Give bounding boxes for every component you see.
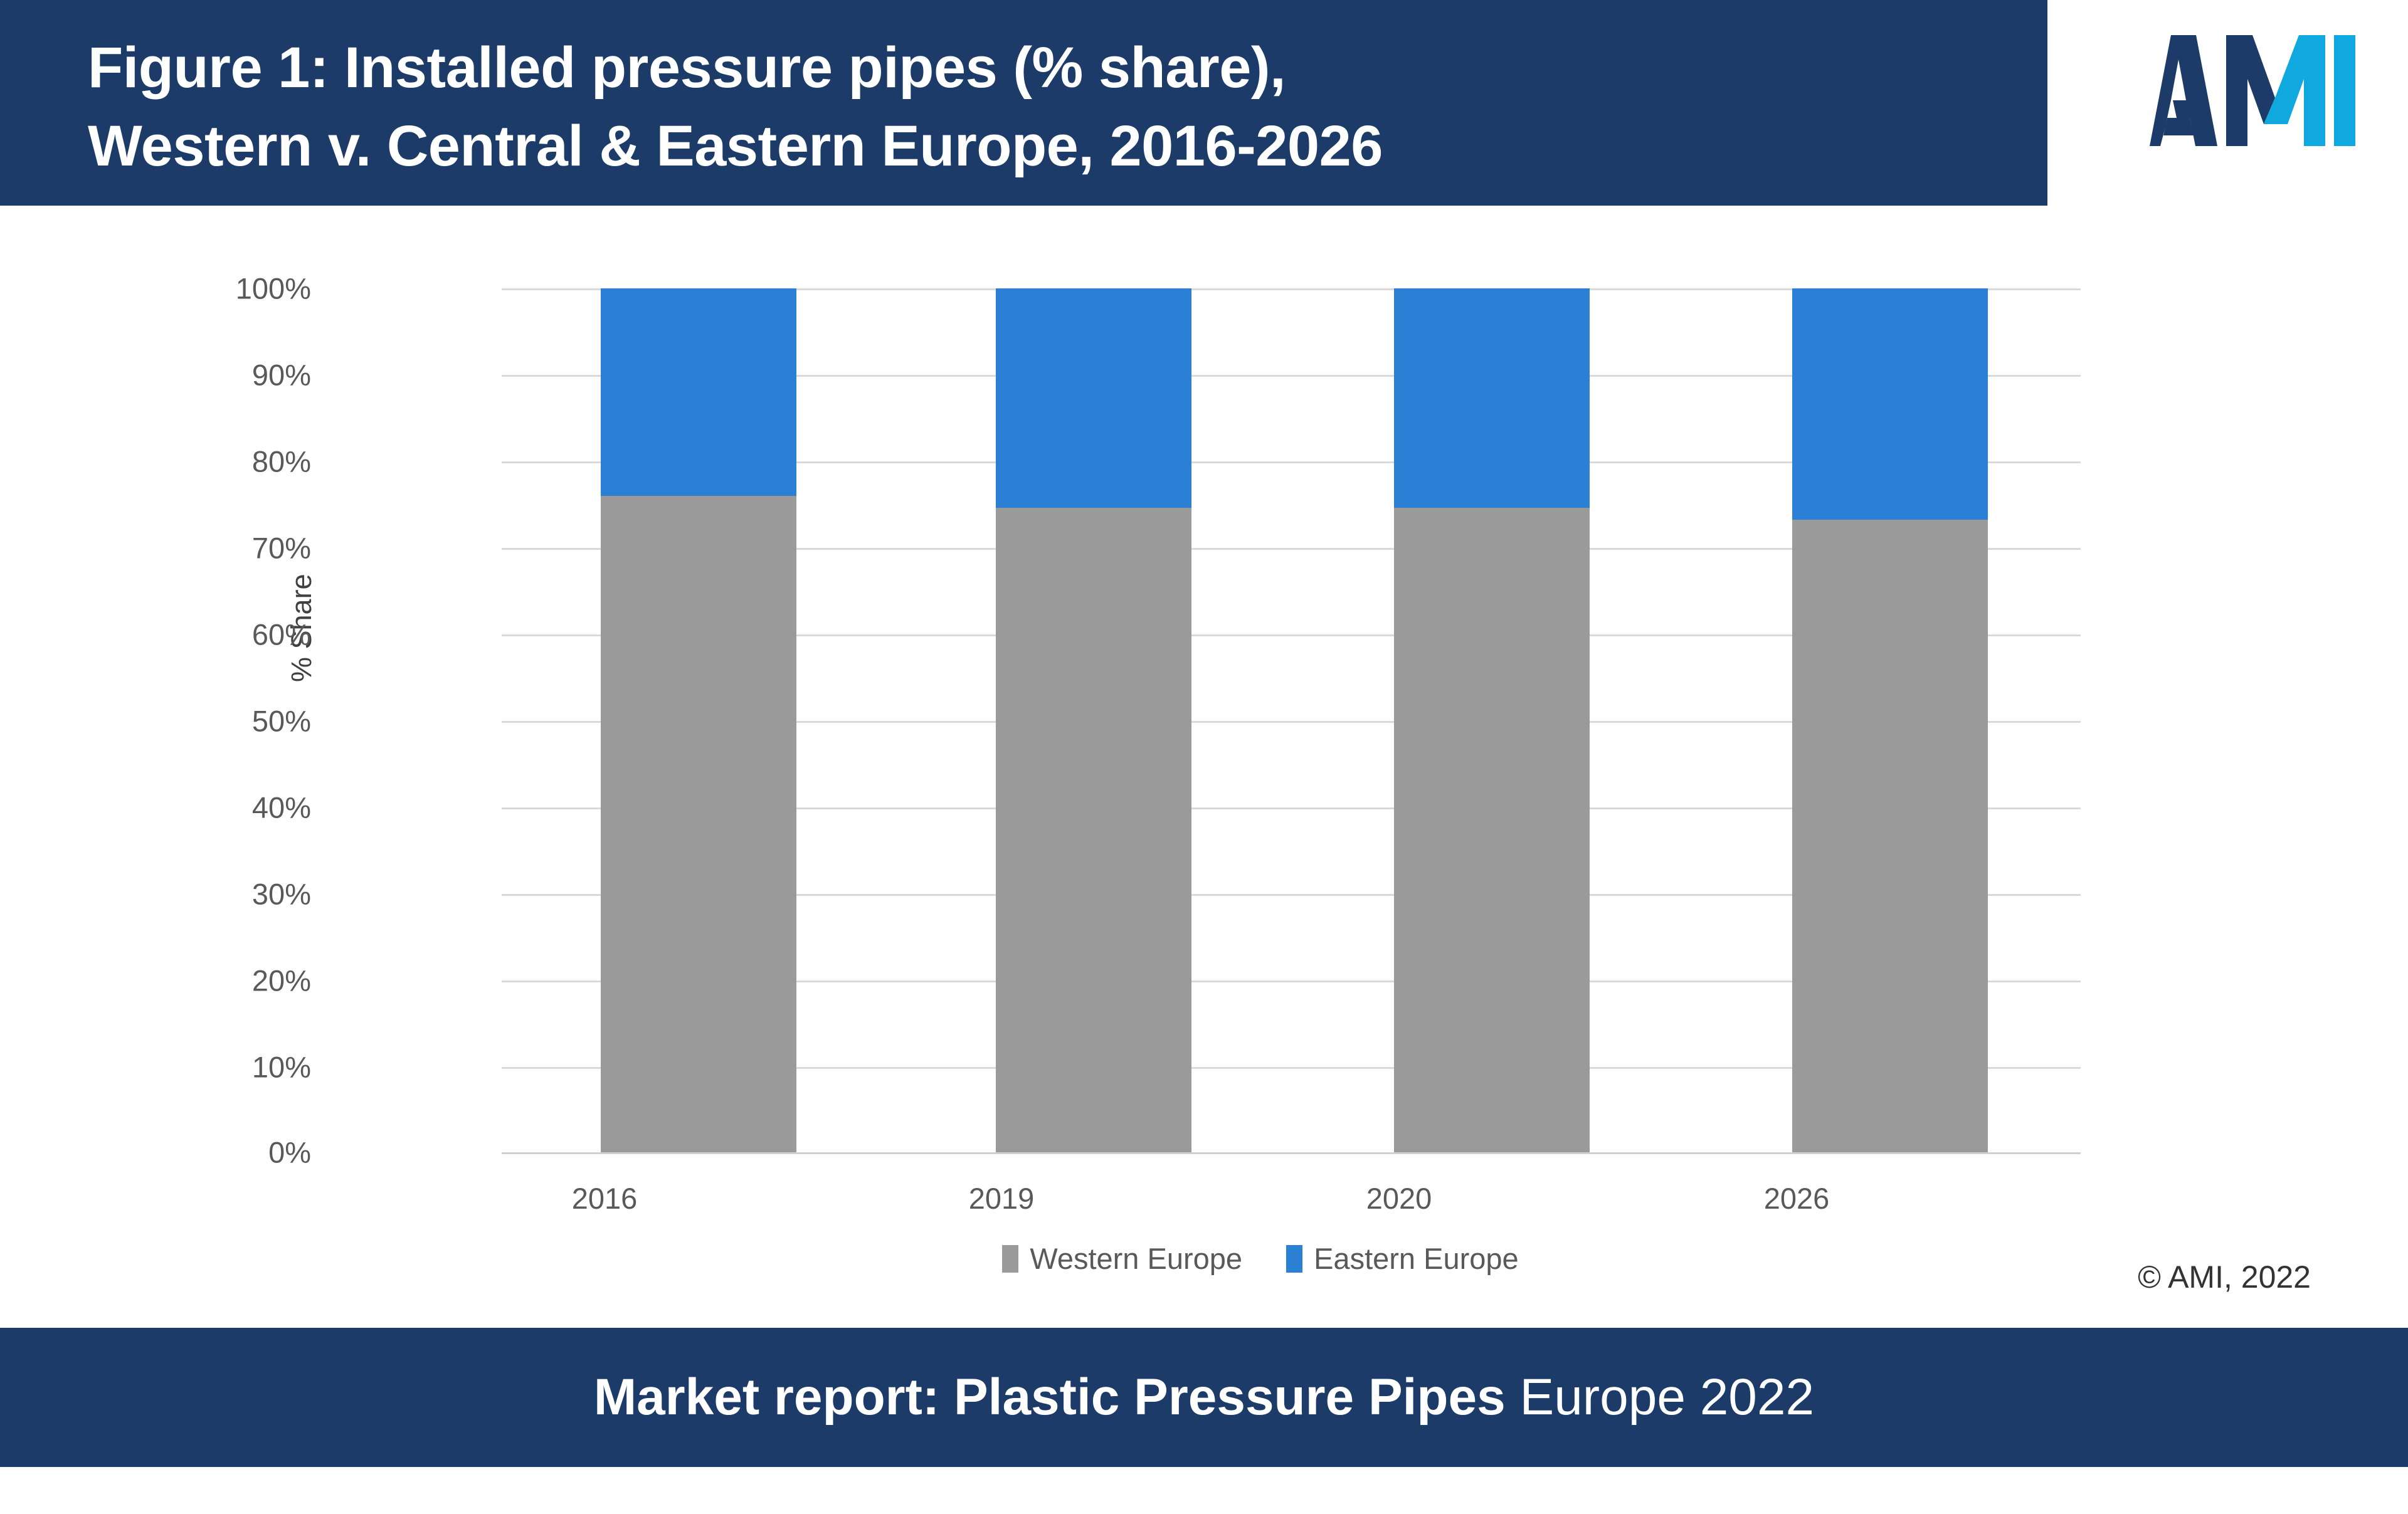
footer-text: Market report: Plastic Pressure Pipes Eu… [594,1368,1814,1427]
bar-segment-eastern-europe [1792,288,1988,520]
bar-segment-eastern-europe [1394,288,1590,508]
legend-item-eastern-europe[interactable]: Eastern Europe [1286,1241,1519,1276]
y-tick-label: 50% [123,704,311,739]
ami-logo [2113,30,2364,149]
bar-segment-western-europe [601,496,796,1152]
footer-region-year: Europe 2022 [1506,1369,1814,1426]
bar-segment-eastern-europe [601,288,796,496]
y-tick-label: 30% [123,877,311,912]
bar-segment-eastern-europe [996,288,1191,508]
footer-report-name: Market report: Plastic Pressure Pipes [594,1369,1506,1426]
bar-segment-western-europe [1792,520,1988,1152]
legend-swatch-icon [1286,1245,1302,1273]
plot-area [502,288,2081,1152]
y-tick-label: 60% [123,618,311,652]
legend-swatch-icon [1002,1245,1018,1273]
y-tick-label: 40% [123,791,311,825]
x-tick-label-2016: 2016 [448,1181,761,1216]
title-line-1: Figure 1: Installed pressure pipes (% sh… [88,36,1286,100]
bar-segment-western-europe [996,508,1191,1152]
footer-bar: Market report: Plastic Pressure Pipes Eu… [0,1328,2408,1467]
page-title: Figure 1: Installed pressure pipes (% sh… [88,29,1982,186]
y-tick-label: 80% [123,444,311,479]
x-tick-label-2020: 2020 [1242,1181,1556,1216]
header-bar: Figure 1: Installed pressure pipes (% sh… [0,0,2047,206]
legend-label: Western Europe [1030,1241,1242,1276]
bar-segment-western-europe [1394,508,1590,1152]
y-tick-label: 90% [123,358,311,392]
chart-area: % Share 100% 90% 80% 70% 60% 50% 40% 30%… [0,206,2408,1310]
y-tick-label: 70% [123,531,311,565]
y-tick-label: 20% [123,964,311,998]
y-tick-label: 10% [123,1050,311,1085]
x-axis-line [502,1152,2081,1154]
bottom-margin [0,1467,2408,1514]
legend-item-western-europe[interactable]: Western Europe [1002,1241,1242,1276]
x-tick-label-2019: 2019 [845,1181,1158,1216]
copyright-text: © AMI, 2022 [2138,1259,2311,1295]
legend-label: Eastern Europe [1314,1241,1519,1276]
chart-legend: Western Europe Eastern Europe [0,1241,2408,1276]
ami-logo-icon [2113,30,2364,149]
title-line-2: Western v. Central & Eastern Europe, 201… [88,114,1383,178]
y-tick-label: 100% [123,271,311,306]
x-tick-label-2026: 2026 [1640,1181,1953,1216]
y-tick-label: 0% [123,1135,311,1170]
